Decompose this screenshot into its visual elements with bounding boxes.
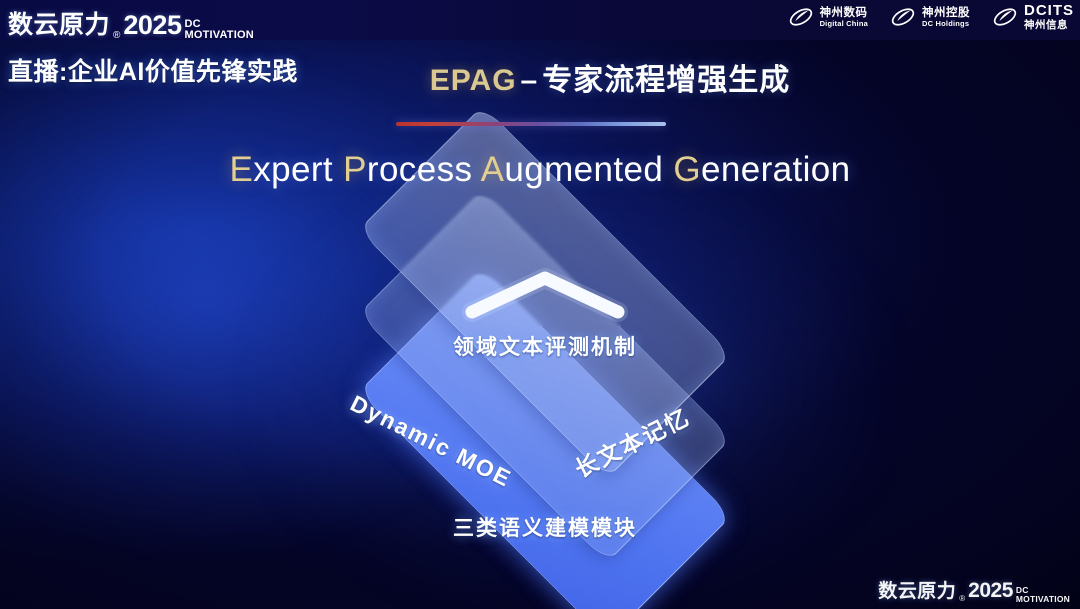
partner-logo-dc-holdings: 神州控股 DC Holdings (890, 4, 970, 30)
partner-logo-text: 神州数码 Digital China (820, 7, 868, 28)
brand-dc-motivation: DC MOTIVATION (184, 19, 253, 41)
partner-name-en: 神州信息 (1024, 20, 1074, 32)
brand-dcm-line2: MOTIVATION (1016, 595, 1070, 604)
brand-dcm-line2: MOTIVATION (184, 30, 253, 41)
page-title-chinese: 专家流程增强生成 (542, 64, 790, 97)
brand-name-cn: 数云原力 (878, 576, 956, 603)
page-title-acronym: EPAG (430, 64, 517, 97)
partner-logo-text: DCITS 神州信息 (1024, 3, 1074, 32)
brand-dc-motivation: DC MOTIVATION (1016, 586, 1070, 603)
layered-architecture-diagram: 领域文本评测机制 Dynamic MOE 长文本记忆 三类语义建模模块 (300, 224, 790, 580)
subtitle-cap-a: A (481, 150, 505, 189)
live-session-title: 直播:企业AI价值先锋实践 (8, 52, 298, 88)
subtitle-cap-p: P (343, 150, 367, 189)
brand-registered-mark: ® (959, 594, 965, 603)
brand-logo-top: 数云原力 ® 2025 DC MOTIVATION (8, 5, 254, 41)
brand-logo-watermark: 数云原力 ® 2025 DC MOTIVATION (878, 576, 1070, 603)
partner-name-cn: 神州数码 (820, 7, 868, 20)
page-subtitle: Expert Process Augmented Generation (0, 150, 1080, 190)
title-divider (396, 122, 666, 126)
partner-logo-digital-china: 神州数码 Digital China (788, 4, 868, 30)
swirl-icon (788, 4, 814, 30)
partner-logo-group: 神州数码 Digital China 神州控股 DC Holdings (788, 3, 1074, 32)
subtitle-rest-expert: xpert (253, 150, 333, 189)
subtitle-word-expert: Expert (229, 150, 333, 189)
subtitle-cap-e: E (229, 150, 253, 189)
subtitle-rest-generation: eneration (701, 150, 851, 189)
brand-name-cn: 数云原力 (8, 5, 110, 41)
subtitle-rest-process: rocess (367, 150, 473, 189)
partner-name-cn: 神州控股 (922, 7, 970, 20)
swirl-icon (992, 4, 1018, 30)
chevron-up-icon (460, 266, 630, 324)
subtitle-cap-g: G (673, 150, 701, 189)
brand-registered-mark: ® (113, 30, 120, 41)
subtitle-rest-augmented: ugmented (504, 150, 663, 189)
subtitle-word-process: Process (343, 150, 472, 189)
subtitle-word-generation: Generation (673, 150, 850, 189)
page-title-dash: – (521, 64, 539, 97)
partner-name-en: Digital China (820, 20, 868, 28)
brand-year: 2025 (123, 10, 181, 41)
swirl-icon (890, 4, 916, 30)
partner-name-en: DC Holdings (922, 20, 970, 28)
brand-year: 2025 (968, 579, 1013, 603)
partner-logo-text: 神州控股 DC Holdings (922, 7, 970, 28)
subtitle-word-augmented: Augmented (481, 150, 664, 189)
slide-stage: 数云原力 ® 2025 DC MOTIVATION 直播:企业AI价值先锋实践 … (0, 0, 1080, 609)
partner-logo-dcits: DCITS 神州信息 (992, 3, 1074, 32)
partner-name-cn: DCITS (1024, 3, 1074, 20)
